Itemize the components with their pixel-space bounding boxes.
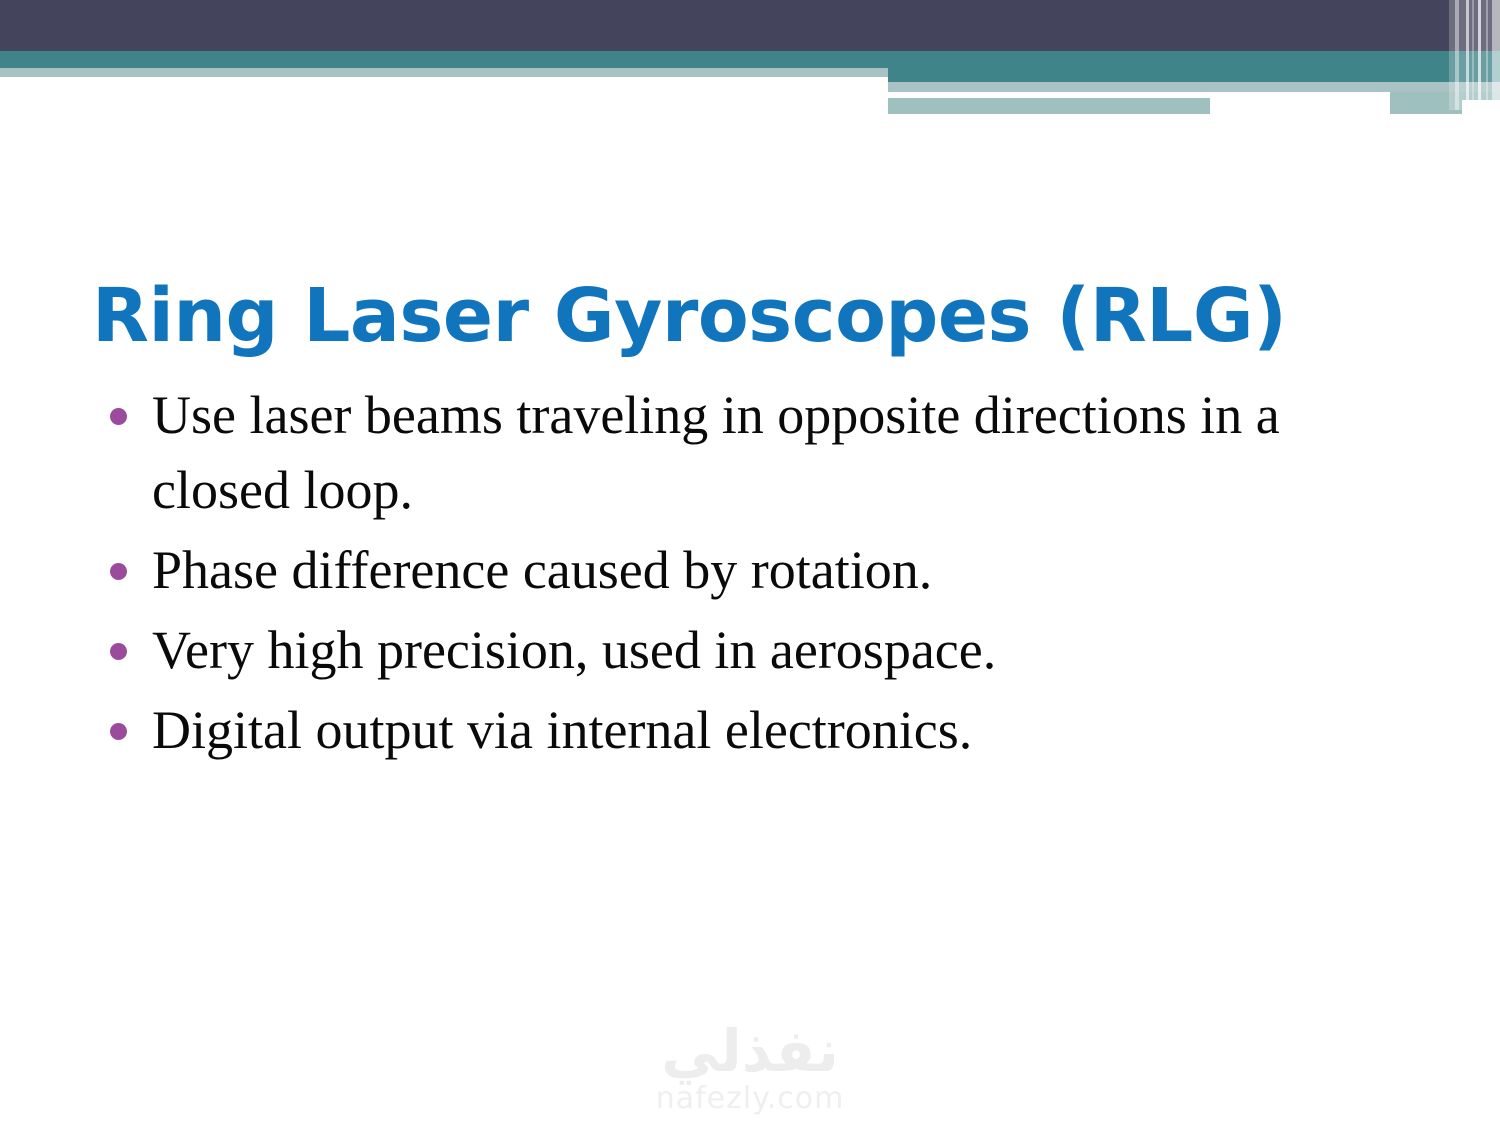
- header-stripe-5: [1486, 0, 1488, 110]
- header-band-pale-lower: [888, 98, 1210, 114]
- header-band-navy: [0, 0, 1500, 51]
- list-item-text: Digital output via internal electronics.: [152, 700, 972, 760]
- watermark-domain-text: nafezly.com: [0, 1082, 1500, 1116]
- header-stripe-3: [1472, 0, 1474, 110]
- header-band-pale-left: [0, 68, 888, 77]
- list-item-text: Use laser beams traveling in opposite di…: [152, 385, 1280, 520]
- slide: Ring Laser Gyroscopes (RLG) Use laser be…: [0, 0, 1500, 1125]
- list-item-text: Very high precision, used in aerospace.: [152, 620, 996, 680]
- watermark-arabic-text: نفذلي: [0, 1020, 1500, 1082]
- bullet-dot-icon: [110, 723, 127, 740]
- bullet-dot-icon: [110, 643, 127, 660]
- header-decoration: [0, 0, 1500, 115]
- header-stripe-clip: [1462, 100, 1500, 115]
- list-item-text: Phase difference caused by rotation.: [152, 540, 932, 600]
- header-stripe-2: [1466, 0, 1469, 110]
- header-stripe-1: [1455, 0, 1459, 110]
- header-stripe-6: [1492, 0, 1500, 110]
- list-item: Phase difference caused by rotation.: [100, 533, 1430, 608]
- bullet-dot-icon: [110, 408, 127, 425]
- list-item: Very high precision, used in aerospace.: [100, 613, 1430, 688]
- watermark: نفذلي nafezly.com: [0, 1020, 1500, 1116]
- header-band-teal-left: [0, 51, 888, 68]
- header-band-pale-right: [888, 82, 1500, 92]
- slide-title: Ring Laser Gyroscopes (RLG): [92, 272, 1412, 360]
- header-stripe-4: [1478, 0, 1481, 110]
- header-band-teal-right: [888, 51, 1500, 82]
- bullet-list: Use laser beams traveling in opposite di…: [100, 378, 1430, 773]
- bullet-dot-icon: [110, 563, 127, 580]
- list-item: Use laser beams traveling in opposite di…: [100, 378, 1430, 528]
- list-item: Digital output via internal electronics.: [100, 693, 1430, 768]
